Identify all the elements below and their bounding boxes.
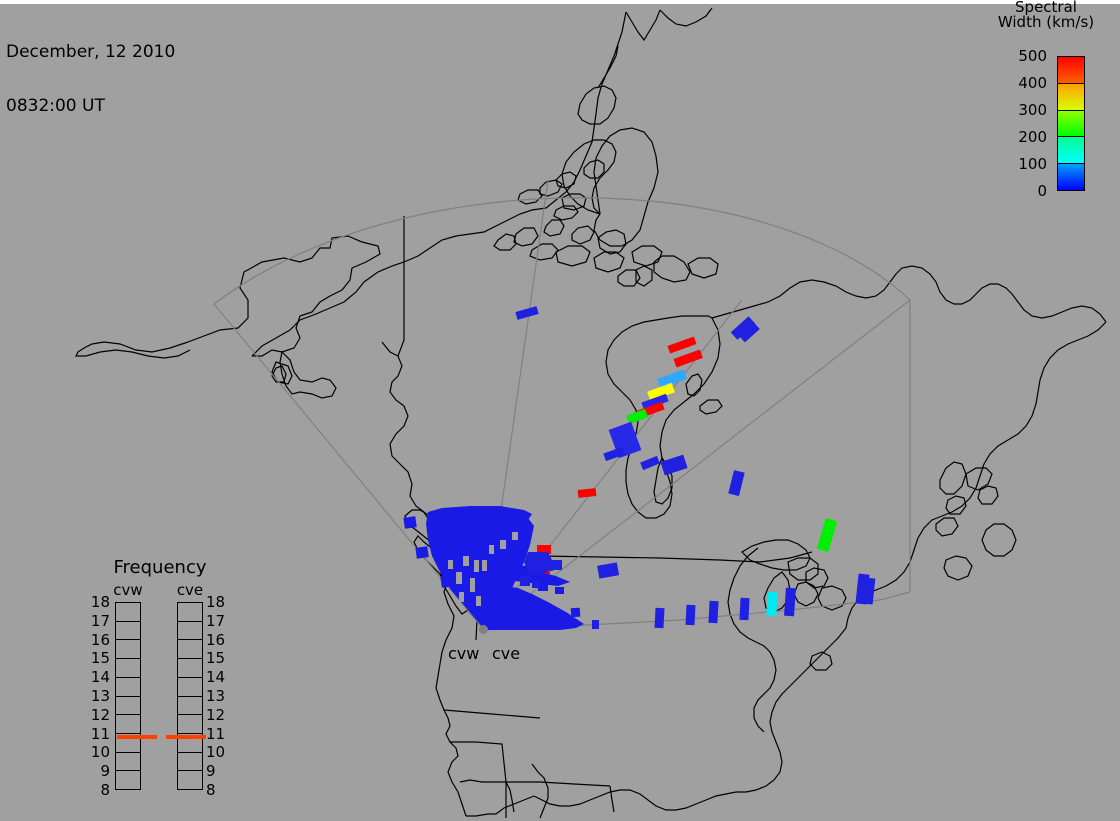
frequency-bar-cell — [178, 603, 202, 622]
frequency-tick: 18 — [88, 595, 110, 610]
frequency-tick: 9 — [206, 764, 228, 779]
frequency-tick: 8 — [88, 783, 110, 798]
frequency-tick: 17 — [206, 614, 228, 629]
colorbar-segment — [1058, 111, 1084, 138]
colorbar-tick: 500 — [1018, 49, 1047, 64]
frequency-bar-cell — [178, 753, 202, 772]
frequency-tick: 13 — [206, 689, 228, 704]
frequency-tick: 17 — [88, 614, 110, 629]
frequency-ticks-right: 18171615141312111098 — [206, 596, 228, 796]
frequency-tick: 16 — [206, 633, 228, 648]
frequency-bar-cell — [178, 715, 202, 734]
frequency-tick: 15 — [88, 651, 110, 666]
frequency-tick: 11 — [88, 727, 110, 742]
frequency-tick: 12 — [88, 708, 110, 723]
frequency-tick: 11 — [206, 727, 228, 742]
colorbar-segment — [1058, 164, 1084, 190]
timestamp-time: 0832:00 UT — [6, 97, 175, 115]
radar-data-cells — [403, 306, 875, 630]
colorbar-title-line2: Width (km/s) — [972, 15, 1120, 30]
frequency-tick: 18 — [206, 595, 228, 610]
colorbar-segment — [1058, 57, 1084, 84]
frequency-tick: 16 — [88, 633, 110, 648]
frequency-bar-cell — [178, 697, 202, 716]
frequency-legend-title: Frequency — [84, 558, 236, 578]
spectral-width-colorbar — [1057, 56, 1085, 191]
frequency-bar-cell — [116, 659, 140, 678]
frequency-bar-cell — [116, 678, 140, 697]
cell — [515, 306, 538, 320]
frequency-tick: 8 — [206, 783, 228, 798]
frequency-marker-cve — [166, 735, 206, 739]
frequency-bar-cell — [178, 622, 202, 641]
radar-site-marker — [479, 625, 488, 634]
colorbar-tick: 100 — [1018, 157, 1047, 172]
frequency-tick: 13 — [88, 689, 110, 704]
timestamp-date: December, 12 2010 — [6, 43, 175, 61]
frequency-bar-cve — [177, 602, 203, 790]
frequency-tick: 15 — [206, 651, 228, 666]
colorbar-tick: 400 — [1018, 76, 1047, 91]
colorbar-segment — [1058, 137, 1084, 164]
timestamp: December, 12 2010 0832:00 UT — [6, 7, 175, 151]
colorbar-tick: 300 — [1018, 103, 1047, 118]
frequency-tick: 14 — [206, 670, 228, 685]
frequency-column-header-cvw: cvw — [105, 582, 151, 598]
frequency-bar-cell — [178, 659, 202, 678]
site-label-cvw: cvw — [448, 646, 479, 662]
frequency-bar-cell — [116, 622, 140, 641]
frequency-bar-cell — [178, 640, 202, 659]
frequency-tick: 10 — [88, 745, 110, 760]
frequency-bar-cvw — [115, 602, 141, 790]
frequency-bar-cell — [116, 771, 140, 789]
colorbar-segment — [1058, 84, 1084, 111]
site-label-cve: cve — [492, 646, 520, 662]
frequency-marker-cvw — [117, 735, 157, 739]
frequency-bar-cell — [178, 678, 202, 697]
frequency-tick: 9 — [88, 764, 110, 779]
frequency-bar-cell — [116, 640, 140, 659]
fan-plot-canvas: December, 12 2010 0832:00 UT Spectral Wi… — [0, 0, 1120, 821]
colorbar-tick: 200 — [1018, 130, 1047, 145]
frequency-tick: 10 — [206, 745, 228, 760]
frequency-bar-cell — [116, 715, 140, 734]
colorbar-tick: 0 — [1037, 184, 1047, 199]
colorbar-tick-labels: 5004003002001000 — [985, 44, 1051, 204]
frequency-tick: 14 — [88, 670, 110, 685]
frequency-ticks-left: 18171615141312111098 — [88, 596, 110, 796]
frequency-tick: 12 — [206, 708, 228, 723]
frequency-bar-cell — [178, 771, 202, 789]
frequency-legend: Frequency cvw cve 18171615141312111098 1… — [84, 558, 236, 788]
colorbar-title: Spectral Width (km/s) — [972, 0, 1120, 30]
frequency-bar-cell — [116, 603, 140, 622]
frequency-bar-cell — [116, 697, 140, 716]
frequency-bar-cell — [116, 753, 140, 772]
